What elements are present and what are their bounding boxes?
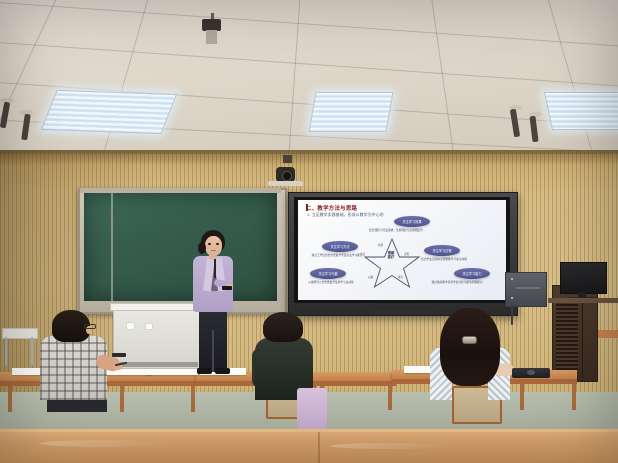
attendee-right-hair: [440, 308, 500, 386]
paper-cup: [126, 322, 135, 330]
classroom-photo: 二、教学方法与思路 1. 立足教学实践基础，形成以教学为中心的 理解医疗 效果 …: [0, 0, 618, 463]
slide-bubble-top: 关注学习效果: [394, 216, 430, 227]
ceiling-light-panel: [41, 90, 177, 134]
teacher-eye-left: [208, 243, 211, 245]
blackboard-top-rail: [80, 188, 281, 193]
podium-base: [120, 362, 198, 367]
desk-leg: [191, 386, 195, 412]
slide-bubble-right-upper: 关注学习过程: [424, 245, 460, 256]
star-diagram: [364, 236, 420, 288]
attendee-left-shirt: [40, 336, 107, 400]
hair-clip: [462, 336, 477, 344]
control-box-slot: [516, 287, 540, 289]
ptz-camera-lens-icon: [282, 171, 292, 181]
foreground-desk-seam: [318, 432, 320, 463]
desk-leg: [120, 386, 124, 412]
foreground-desk: [0, 432, 618, 463]
display-logo-bar: [370, 310, 434, 315]
spoke-label-right: 过程: [404, 252, 409, 256]
slide-note-right-lower: 通过情境教学培养学生分析与解决问题能力: [420, 281, 494, 284]
equipment-shelf: [548, 298, 618, 303]
ceiling-light-panel: [308, 92, 393, 132]
teacher-leg-split: [212, 330, 214, 372]
wall-trim: [0, 150, 618, 154]
podium: [113, 307, 208, 369]
paper-cup: [145, 323, 153, 330]
laptop-trackpad: [527, 370, 535, 375]
teacher-shoe: [215, 368, 230, 374]
blackboard-panel-divider: [111, 193, 113, 301]
ceiling-camera-mount: [206, 30, 217, 44]
slide-bubble-right-lower: 关注学习能力: [454, 268, 490, 279]
hanging-speaker: [510, 109, 520, 138]
teacher-eye-right: [216, 243, 219, 245]
scarf-on-chair: [297, 388, 327, 434]
desk-sheen: [330, 443, 450, 449]
status-led-icon: [511, 297, 513, 299]
slide-note-right-upper: 结合学生实际情况调整教学节奏与内容: [418, 258, 470, 261]
slide-note-left-upper: 通过工学结合的方式提升学生自主学习能力: [310, 254, 364, 257]
teacher-hair-bun: [198, 242, 206, 254]
ptz-wall-camera-bracket: [283, 155, 292, 163]
ceiling: [0, 0, 618, 163]
attendee-middle-hair: [263, 312, 303, 342]
side-table-leg: [5, 337, 7, 365]
side-table-leg: [31, 337, 33, 365]
cabinet-door-seam: [582, 290, 583, 378]
wall-control-box[interactable]: [505, 272, 547, 307]
teacher-shoe: [197, 368, 212, 374]
slide-note-left-lower: 以案例导入方式激发学生的学习主动性: [302, 281, 360, 284]
desk-sheen: [40, 440, 170, 447]
spoke-label-top: 效果: [378, 243, 383, 247]
slide-bubble-left-lower: 关注学习兴趣: [310, 268, 346, 279]
desk-leg: [520, 384, 524, 410]
slide-subtitle: 1. 立足教学实践基础，形成以教学为中心的: [307, 213, 384, 218]
paper-handout: [146, 369, 198, 375]
teacher-lanyard: [214, 258, 216, 278]
cabinet-cable-rack: [556, 300, 578, 370]
spoke-label-bottom-left: 兴趣: [368, 275, 373, 279]
slide-note-top: 结合课程与行业需求，注重理论与实践相结合: [366, 229, 426, 232]
desk-leg: [8, 386, 12, 412]
slide-bubble-left-upper: 关注学习方法: [322, 241, 358, 252]
desk-leg: [388, 384, 392, 410]
control-box-cable: [511, 303, 513, 325]
status-led-icon: [511, 278, 513, 280]
slide-title: 二、教学方法与思路: [306, 204, 357, 212]
desk-leg: [572, 384, 576, 410]
teacher-face: [205, 236, 222, 256]
presentation-remote[interactable]: [222, 286, 232, 290]
desk-monitor[interactable]: [560, 262, 607, 294]
ceiling-light-panel: [544, 92, 618, 130]
hanging-speaker: [0, 102, 10, 129]
ptz-camera-base: [268, 181, 303, 186]
eyeglasses-icon: [84, 324, 96, 329]
desk-right-edge: [598, 330, 618, 338]
hanging-speaker: [21, 114, 31, 141]
star-center-label: 理解医疗: [378, 251, 404, 260]
spoke-label-bottom-right: 能力: [398, 275, 403, 279]
teacher-mouth: [211, 250, 216, 251]
